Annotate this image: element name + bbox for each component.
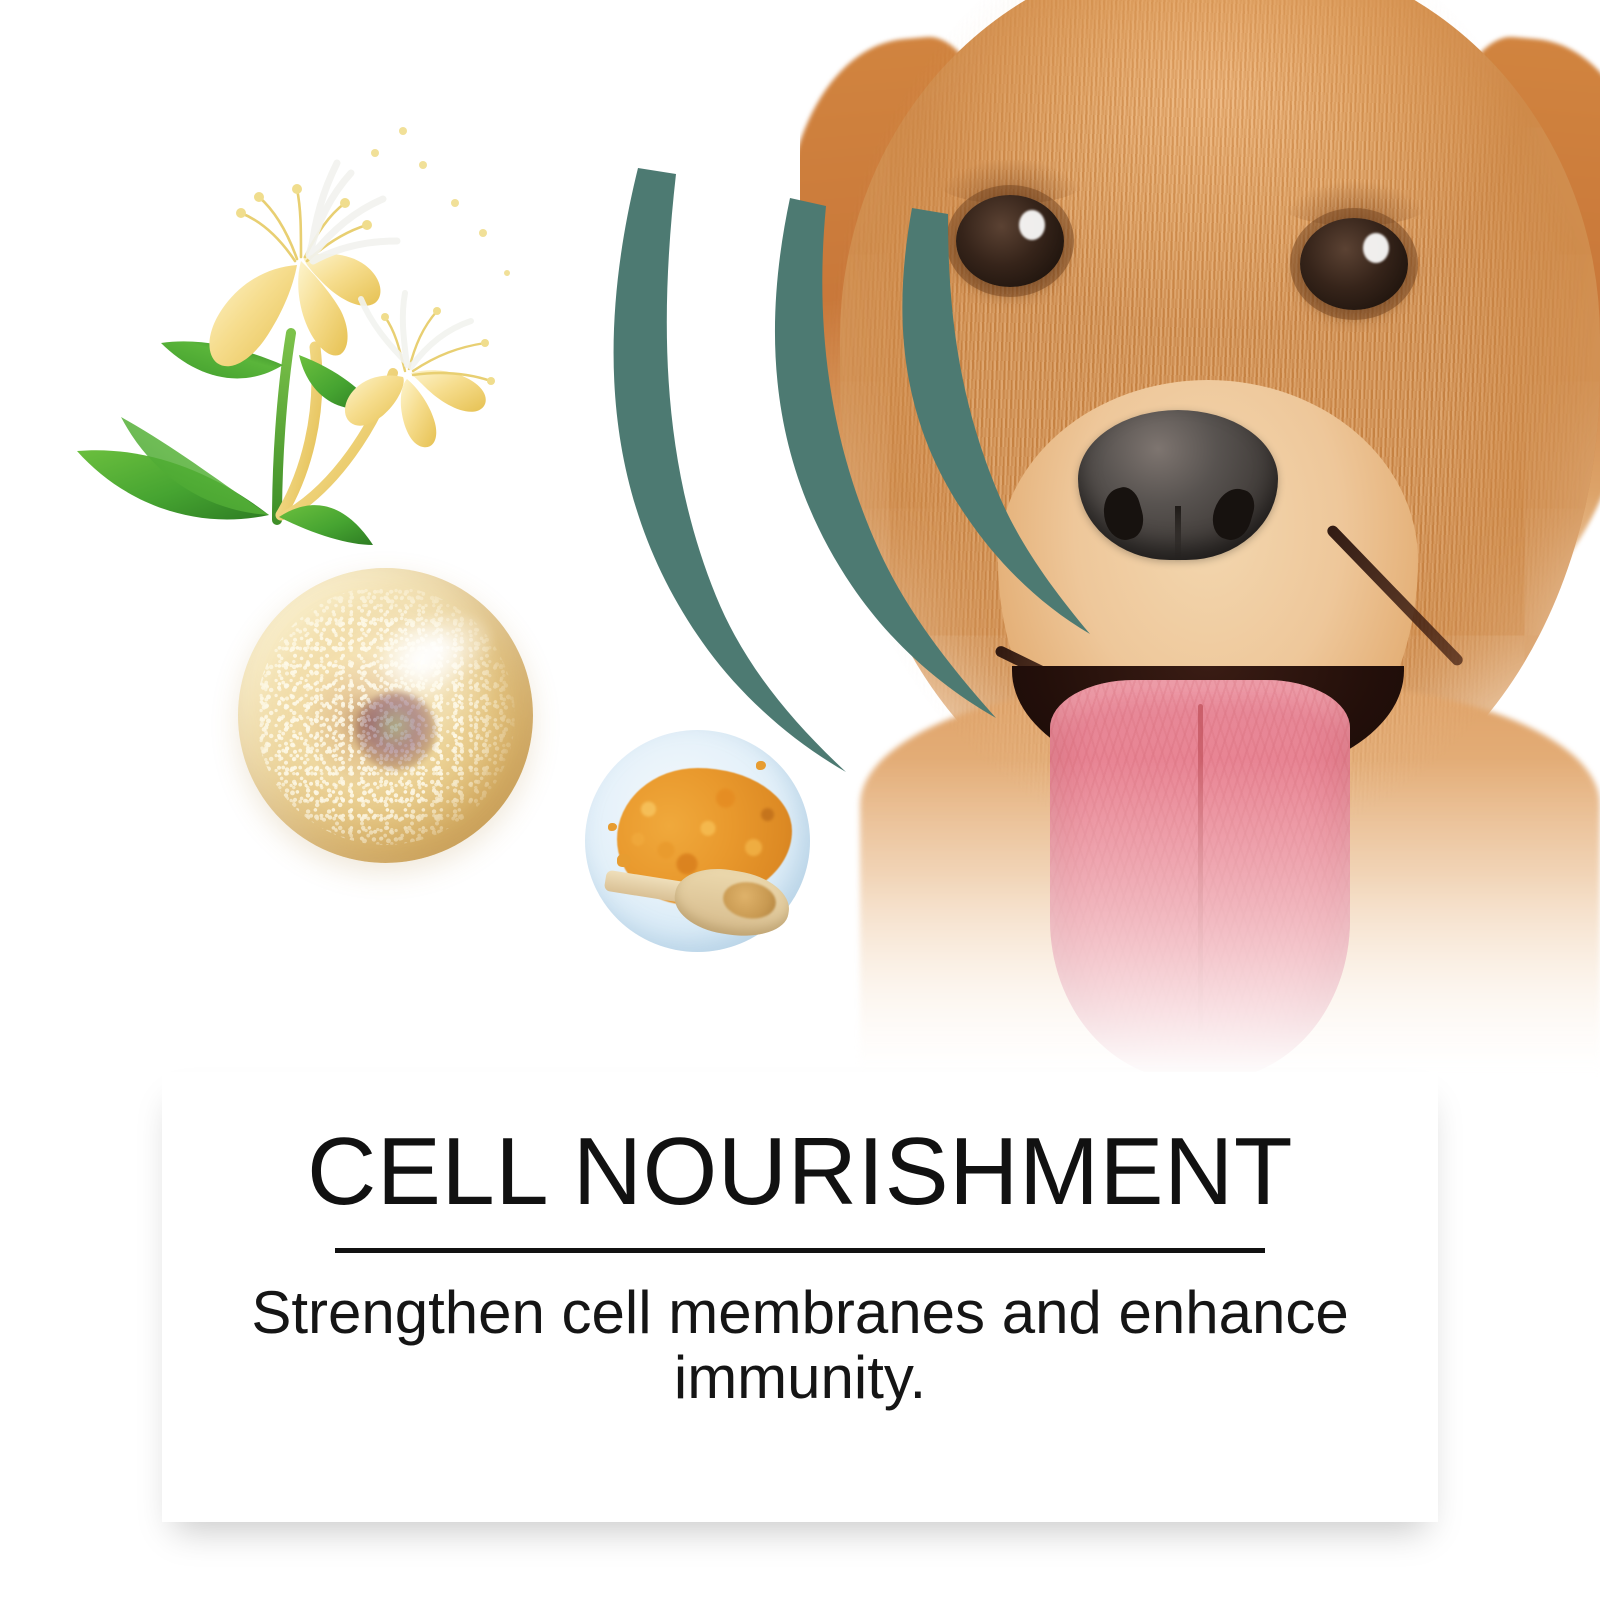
flower-blossom-primary — [209, 163, 397, 366]
turmeric-crumb — [608, 823, 617, 831]
dog-nose-split — [1175, 506, 1181, 562]
dog-tongue-texture — [1050, 680, 1350, 1080]
dog-tongue — [1050, 680, 1350, 1080]
honeysuckle-illustration — [55, 115, 535, 545]
dog-nostril-right — [1208, 484, 1259, 544]
poster-root: CELL NOURISHMENT Strengthen cell membran… — [0, 0, 1600, 1600]
leaf-lower-right — [279, 505, 373, 545]
spoon-powder-fill — [721, 879, 779, 923]
card-title: CELL NOURISHMENT — [307, 1124, 1293, 1220]
turmeric-powder-dish — [585, 730, 810, 952]
dog-nose — [1078, 410, 1278, 560]
pollen-dots — [371, 127, 510, 276]
golden-retriever-photo — [800, 0, 1600, 1160]
flower-blossom-secondary — [345, 293, 495, 447]
dog-image-inner — [800, 0, 1600, 1160]
golden-oil-sphere — [238, 568, 533, 863]
card-divider — [335, 1248, 1265, 1253]
spoon-bowl — [670, 862, 793, 943]
info-card: CELL NOURISHMENT Strengthen cell membran… — [162, 1072, 1438, 1522]
dog-eye-left — [956, 195, 1064, 287]
sphere-core — [356, 692, 436, 770]
dog-eye-right — [1300, 218, 1408, 310]
card-subtitle: Strengthen cell membranes and enhance im… — [218, 1281, 1383, 1411]
dog-nostril-left — [1098, 484, 1149, 544]
